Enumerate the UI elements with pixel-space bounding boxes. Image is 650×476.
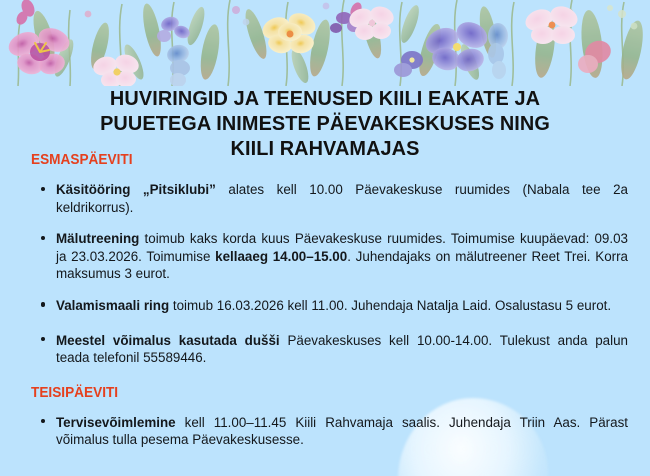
item-detail: toimub 16.03.2026 kell 11.00. Juhendaja …: [169, 298, 611, 313]
day-heading-monday: ESMASPÄEVITI: [31, 152, 613, 168]
item-title: Meestel võimalus kasutada dušši: [56, 333, 280, 348]
item-title: Valamismaali ring: [56, 298, 169, 313]
poster-page: HUVIRINGID JA TEENUSED KIILI EAKATE JA P…: [0, 0, 650, 476]
list-item: Meestel võimalus kasutada dušši Päevakes…: [56, 332, 628, 367]
title-line-2: PUUETEGA INIMESTE PÄEVAKESKUSES NING: [10, 111, 641, 136]
floral-header-banner: [0, 0, 650, 86]
page-title: HUVIRINGID JA TEENUSED KIILI EAKATE JA P…: [10, 86, 641, 161]
list-item: Valamismaali ring toimub 16.03.2026 kell…: [56, 297, 628, 315]
monday-item-list: Käsitööring „Pitsiklubi” alates kell 10.…: [0, 181, 650, 367]
item-title: Mälutreening: [56, 231, 139, 246]
title-line-1: HUVIRINGID JA TEENUSED KIILI EAKATE JA: [10, 86, 641, 111]
item-title: Käsitööring „Pitsiklubi”: [56, 182, 216, 197]
bullet-icon: [41, 187, 45, 191]
item-time-emphasis: kellaaeg 14.00–15.00: [215, 249, 347, 264]
list-item: Käsitööring „Pitsiklubi” alates kell 10.…: [56, 181, 628, 216]
floral-illustration: [0, 0, 650, 86]
bullet-icon: [41, 419, 45, 423]
schedule-content: ESMASPÄEVITI Käsitööring „Pitsiklubi” al…: [0, 152, 650, 449]
list-item: Mälutreening toimub kaks korda kuus Päev…: [56, 230, 628, 283]
day-heading-tuesday: TEISIPÄEVITI: [31, 385, 613, 401]
list-item: Tervisevõimlemine kell 11.00–11.45 Kiili…: [56, 414, 628, 449]
bullet-icon: [41, 236, 45, 240]
tuesday-item-list: Tervisevõimlemine kell 11.00–11.45 Kiili…: [0, 414, 650, 449]
item-title: Tervisevõimlemine: [56, 415, 176, 430]
bullet-icon: [41, 337, 45, 341]
bullet-icon: [41, 302, 45, 306]
